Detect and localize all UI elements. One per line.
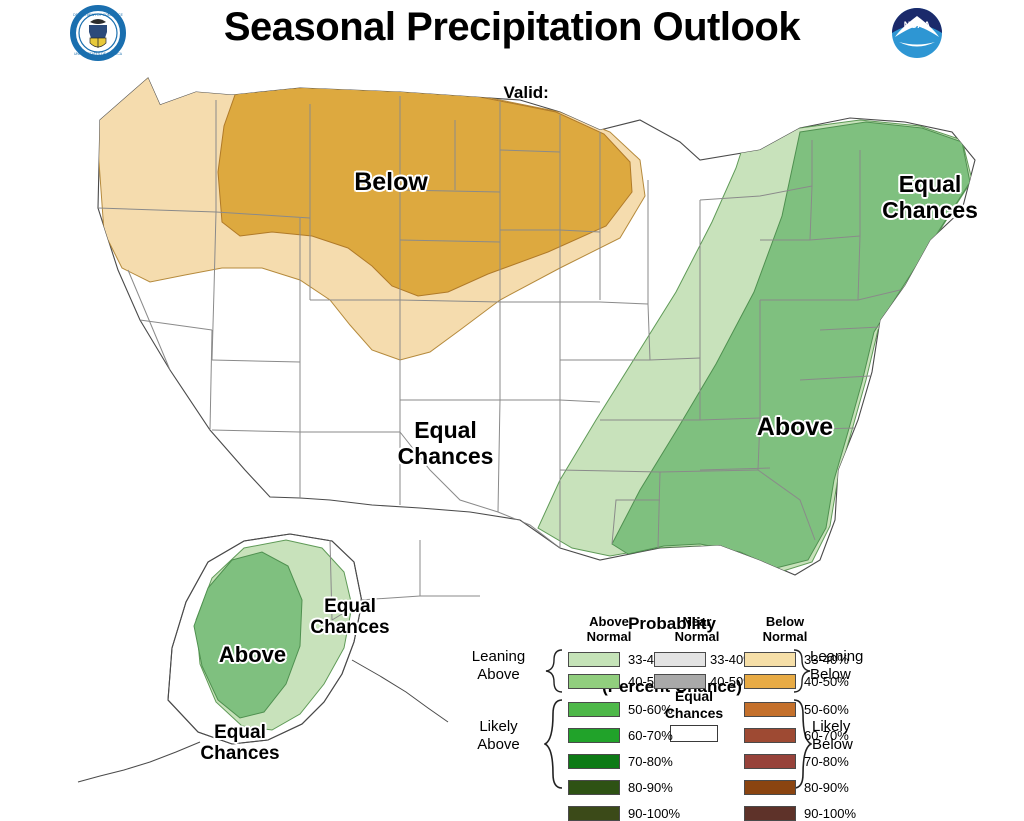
- legend-swatch-near-normal-33-40%: [654, 652, 706, 667]
- alaska-panhandle: [352, 660, 448, 722]
- legend-col-head-near-normal: Near Normal: [657, 615, 737, 645]
- map-label-below-northwest: Below: [336, 168, 446, 196]
- legend-range-below-normal-60-70%: 60-70%: [804, 728, 849, 743]
- legend-range-above-normal-60-70%: 60-70%: [628, 728, 673, 743]
- legend-swatch-above-normal-80-90%: [568, 780, 620, 795]
- legend-col-head-below-normal: Below Normal: [740, 615, 830, 645]
- probability-legend: Probability (Percent Chance) Above Norma…: [452, 570, 892, 791]
- legend-swatch-above-normal-33-40%: [568, 652, 620, 667]
- brace-likely-above-icon: [544, 698, 564, 790]
- legend-col-head-above-normal: Above Normal: [564, 615, 654, 645]
- legend-swatch-below-normal-70-80%: [744, 754, 796, 769]
- legend-range-below-normal-33-40%: 33-40%: [804, 652, 849, 667]
- legend-range-below-normal-80-90%: 80-90%: [804, 780, 849, 795]
- aleutian-chain: [78, 742, 200, 782]
- legend-swatch-below-normal-90-100%: [744, 806, 796, 821]
- legend-swatch-above-normal-40-50%: [568, 674, 620, 689]
- legend-range-below-normal-50-60%: 50-60%: [804, 702, 849, 717]
- legend-range-above-normal-50-60%: 50-60%: [628, 702, 673, 717]
- legend-range-below-normal-90-100%: 90-100%: [804, 806, 856, 821]
- legend-swatch-above-normal-70-80%: [568, 754, 620, 769]
- legend-side-leaning-above: Leaning Above: [456, 648, 541, 683]
- legend-swatch-below-normal-80-90%: [744, 780, 796, 795]
- legend-swatch-equal-chances: [670, 725, 718, 742]
- legend-side-likely-above: Likely Above: [456, 718, 541, 753]
- legend-swatch-above-normal-50-60%: [568, 702, 620, 717]
- map-label-above-alaska: Above: [205, 643, 300, 668]
- legend-swatch-above-normal-90-100%: [568, 806, 620, 821]
- legend-range-above-normal-80-90%: 80-90%: [628, 780, 673, 795]
- legend-swatch-below-normal-33-40%: [744, 652, 796, 667]
- legend-swatch-near-normal-40-50%: [654, 674, 706, 689]
- legend-swatch-below-normal-60-70%: [744, 728, 796, 743]
- legend-range-above-normal-70-80%: 70-80%: [628, 754, 673, 769]
- legend-swatch-below-normal-40-50%: [744, 674, 796, 689]
- map-label-equal-chances-central: Equal Chances: [378, 418, 513, 470]
- map-label-equal-chances-alaska-north: Equal Chances: [300, 596, 400, 639]
- map-label-above-southeast: Above: [740, 413, 850, 441]
- map-label-equal-chances-alaska-south: Equal Chances: [190, 722, 290, 765]
- brace-leaning-above-icon: [544, 648, 564, 694]
- legend-range-above-normal-90-100%: 90-100%: [628, 806, 680, 821]
- legend-range-below-normal-70-80%: 70-80%: [804, 754, 849, 769]
- outlook-map-page: DEPARTMENT OF COMMERCE UNITED STATES OF …: [0, 0, 1024, 791]
- legend-range-below-normal-40-50%: 40-50%: [804, 674, 849, 689]
- map-label-equal-chances-northeast: Equal Chances: [865, 172, 995, 224]
- legend-swatch-below-normal-50-60%: [744, 702, 796, 717]
- legend-swatch-above-normal-60-70%: [568, 728, 620, 743]
